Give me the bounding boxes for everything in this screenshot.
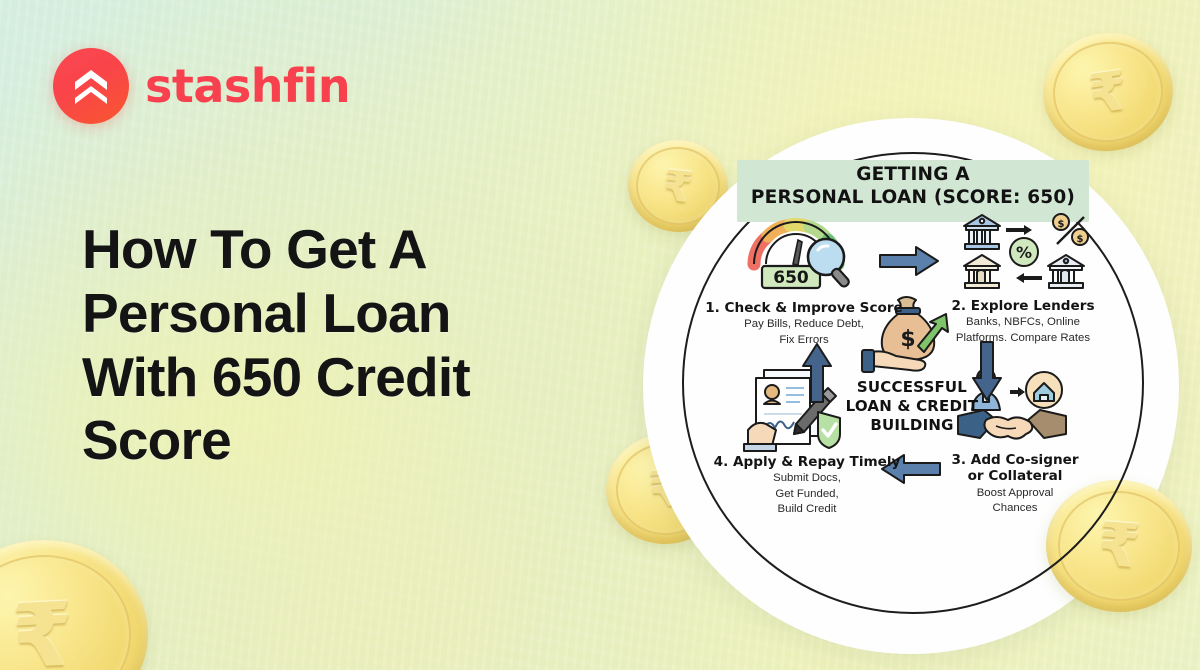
brand-logo[interactable]: stashfin — [53, 48, 350, 124]
rupee-icon: ₹ — [1035, 25, 1180, 160]
rupee-icon: ₹ — [0, 535, 153, 670]
step-2-subtitle-line2: Platforms. Compare Rates — [898, 331, 1148, 345]
center-label-line3: BUILDING — [824, 416, 1000, 435]
step-1-check-improve-score: 1. Check & Improve Score Pay Bills, Redu… — [674, 300, 934, 347]
step-3-add-cosigner-or-collateral: 3. Add Co-signer or Collateral Boost App… — [900, 452, 1130, 515]
step-4-subtitle-line1: Submit Docs, — [682, 471, 932, 485]
step-1-subtitle-line2: Fix Errors — [674, 333, 934, 347]
page-title: How To Get A Personal Loan With 650 Cred… — [82, 218, 552, 473]
arrow-right-icon — [878, 244, 940, 278]
step-4-subtitle-line2: Get Funded, — [682, 487, 932, 501]
infographic-title-line1: GETTING A — [714, 164, 1112, 187]
step-3-title: 3. Add Co-signer — [900, 452, 1130, 468]
stashfin-chevron-logo-icon — [53, 48, 129, 124]
step-1-subtitle-line1: Pay Bills, Reduce Debt, — [674, 317, 934, 331]
step-3-subtitle-line2: Chances — [900, 501, 1130, 515]
infographic: GETTING A PERSONAL LOAN (SCORE: 650) 650 — [682, 152, 1144, 614]
step-4-apply-repay-timely: 4. Apply & Repay Timely Submit Docs, Get… — [682, 454, 932, 516]
credit-score-gauge-magnifier-icon: 650 — [740, 214, 868, 298]
step-2-title: 2. Explore Lenders — [898, 298, 1148, 314]
svg-text:%: % — [1016, 243, 1032, 262]
infographic-title-line2: PERSONAL LOAN (SCORE: 650) — [714, 187, 1112, 210]
step-4-title: 4. Apply & Repay Timely — [682, 454, 932, 470]
step-3-title-line2: or Collateral — [900, 468, 1130, 484]
step-1-title: 1. Check & Improve Score — [674, 300, 934, 316]
gauge-score-value: 650 — [773, 268, 809, 288]
brand-name: stashfin — [145, 59, 350, 113]
step-2-explore-lenders: 2. Explore Lenders Banks, NBFCs, Online … — [898, 298, 1148, 345]
svg-text:$: $ — [1077, 234, 1084, 245]
svg-text:$: $ — [1058, 219, 1065, 230]
coin-top-right: ₹ — [1035, 25, 1180, 160]
step-4-subtitle-line3: Build Credit — [682, 502, 932, 516]
infographic-title: GETTING A PERSONAL LOAN (SCORE: 650) — [714, 164, 1112, 210]
banks-interest-rate-icon: % $ $ — [960, 208, 1090, 294]
step-3-subtitle-line1: Boost Approval — [900, 486, 1130, 500]
step-2-subtitle-line1: Banks, NBFCs, Online — [898, 315, 1148, 329]
coin-bottom-left-large: ₹ — [0, 535, 153, 670]
arrow-down-icon — [970, 340, 1004, 402]
arrow-up-icon — [800, 342, 834, 404]
